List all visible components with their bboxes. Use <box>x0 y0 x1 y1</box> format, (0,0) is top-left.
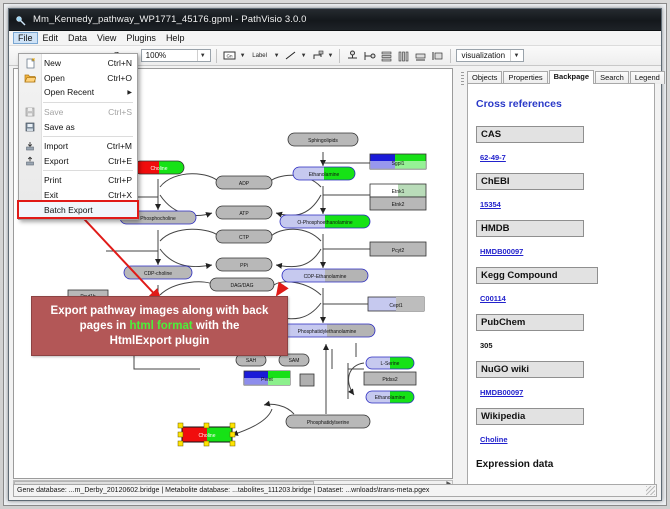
menu-separator <box>43 170 133 171</box>
status-bar: Gene database: ...m_Derby_20120602.bridg… <box>13 484 657 497</box>
svg-text:Phosphatidylethanolamine: Phosphatidylethanolamine <box>298 329 357 335</box>
annotation-line-1: Export pathway images along with back <box>51 304 269 319</box>
menu-item-import[interactable]: Import Ctrl+M <box>19 139 137 154</box>
node-ethanolamine-top: Ethanolamine <box>293 167 355 180</box>
node-sphingolipids: Sphingolipids <box>288 133 358 146</box>
toolbar-separator <box>339 49 340 63</box>
menu-item-batch-export-label: Batch Export <box>41 205 137 215</box>
node-cdp-ethanolamine: CDP-Ethanolamine <box>282 269 368 282</box>
menu-item-print-accel: Ctrl+P <box>108 175 137 185</box>
chevron-down-icon[interactable]: ▼ <box>301 53 307 59</box>
menu-item-print[interactable]: Print Ctrl+P <box>19 173 137 188</box>
svg-text:Sgpl1: Sgpl1 <box>392 161 405 167</box>
menu-item-export[interactable]: Export Ctrl+E <box>19 154 137 169</box>
xref-header-hmdb: HMDB <box>476 220 584 237</box>
svg-text:Sphingolipids: Sphingolipids <box>308 138 338 144</box>
zoom-combo[interactable]: 100% ▼ <box>141 49 211 62</box>
node-atp: ATP <box>216 206 272 219</box>
xref-value-pubchem: 305 <box>480 341 493 350</box>
menu-item-import-accel: Ctrl+M <box>107 141 137 151</box>
open-folder-icon <box>19 71 41 85</box>
svg-text:Pemt: Pemt <box>261 377 273 383</box>
svg-text:Choline: Choline <box>199 433 216 439</box>
svg-text:Etnk2: Etnk2 <box>392 202 405 208</box>
svg-text:Choline: Choline <box>151 166 168 172</box>
node-ctp: CTP <box>216 230 272 243</box>
zoom-value: 100% <box>144 51 197 60</box>
menu-file[interactable]: File <box>13 32 38 44</box>
toolbar-separator <box>216 49 217 63</box>
menu-item-import-label: Import <box>41 141 107 151</box>
blank-icon <box>19 173 41 187</box>
menu-item-open[interactable]: Open Ctrl+O <box>19 71 137 86</box>
menu-item-new-label: New <box>41 58 108 68</box>
chevron-down-icon: ▼ <box>510 50 521 61</box>
distribute-vertical-icon[interactable] <box>379 48 394 63</box>
node-adp: ADP <box>216 176 272 189</box>
line-tool-icon[interactable] <box>283 48 298 63</box>
menu-item-open-label: Open <box>41 73 107 83</box>
blank-icon <box>19 203 41 217</box>
title-bar: Mm_Kennedy_pathway_WP1771_45176.gpml - P… <box>9 9 661 31</box>
chevron-down-icon[interactable]: ▼ <box>328 53 334 59</box>
chevron-down-icon: ▼ <box>197 50 208 61</box>
xref-link-kegg[interactable]: C00114 <box>480 294 506 303</box>
save-disk-icon <box>19 105 41 119</box>
gene-ptdss2: Ptdss2 <box>364 372 416 385</box>
panel-splitter[interactable] <box>459 68 466 489</box>
menu-item-export-label: Export <box>41 156 108 166</box>
xref-link-wikipedia[interactable]: Choline <box>480 435 508 444</box>
menu-item-export-accel: Ctrl+E <box>108 156 137 166</box>
svg-text:O-Phosphoethanolamine: O-Phosphoethanolamine <box>297 220 353 226</box>
node-cdp-choline: CDP-choline <box>124 266 192 279</box>
backpage-content: Cross references CAS 62-49-7 ChEBI 15354… <box>467 83 655 487</box>
svg-text:Gn: Gn <box>226 54 233 59</box>
menu-item-exit[interactable]: Exit Ctrl+X <box>19 188 137 203</box>
gene-sgpl1: Sgpl1 <box>370 154 426 169</box>
align-top-icon[interactable] <box>345 48 360 63</box>
xref-header-wikipedia: Wikipedia <box>476 408 584 425</box>
expression-data-heading: Expression data <box>476 459 646 470</box>
menu-item-print-label: Print <box>41 175 108 185</box>
side-panel: Objects Properties Backpage Search Legen… <box>459 68 656 489</box>
menu-item-save-as-label: Save as <box>41 122 132 132</box>
import-icon <box>19 139 41 153</box>
interaction-tool-icon[interactable] <box>310 48 325 63</box>
toolbar-separator <box>450 49 451 63</box>
save-as-icon <box>19 120 41 134</box>
xref-link-cas[interactable]: 62-49-7 <box>480 153 506 162</box>
same-height-icon[interactable] <box>430 48 445 63</box>
splitter-grip-icon <box>461 72 464 86</box>
status-text: Gene database: ...m_Derby_20120602.bridg… <box>17 487 429 494</box>
svg-text:CDP-Ethanolamine: CDP-Ethanolamine <box>304 274 347 280</box>
menu-bar: File Edit Data View Plugins Help <box>9 31 661 46</box>
xref-header-cas: CAS <box>476 126 584 143</box>
visualization-combo[interactable]: visualization ▼ <box>456 49 524 62</box>
svg-text:CTP: CTP <box>239 235 250 241</box>
node-phosphatidylethanolamine: Phosphatidylethanolamine <box>279 324 375 337</box>
menu-item-open-recent-label: Open Recent <box>41 87 127 97</box>
annotation-callout: Export pathway images along with back pa… <box>31 296 288 356</box>
gene-pcyt2: Pcyt2 <box>370 242 426 256</box>
menu-item-save-accel: Ctrl+S <box>108 107 137 117</box>
tab-backpage[interactable]: Backpage <box>549 70 594 84</box>
new-document-icon <box>19 56 41 70</box>
shape-gray-block <box>300 374 314 386</box>
svg-text:Ptdss2: Ptdss2 <box>382 377 398 383</box>
chevron-down-icon[interactable]: ▼ <box>274 53 280 59</box>
menu-view[interactable]: View <box>92 32 121 44</box>
svg-text:Cept1: Cept1 <box>389 303 403 309</box>
xref-link-hmdb[interactable]: HMDB00097 <box>480 247 523 256</box>
annotation-highlight: html format <box>129 320 192 332</box>
same-width-icon[interactable] <box>413 48 428 63</box>
menu-plugins[interactable]: Plugins <box>121 32 161 44</box>
resize-grip-icon[interactable] <box>646 486 655 495</box>
svg-text:CDP-choline: CDP-choline <box>144 271 172 277</box>
export-icon <box>19 154 41 168</box>
visualization-value: visualization <box>459 51 510 60</box>
xref-link-chebi[interactable]: 15354 <box>480 200 501 209</box>
svg-text:Etnk1: Etnk1 <box>392 189 405 195</box>
svg-text:DAG/DAG: DAG/DAG <box>230 283 253 289</box>
menu-item-save-label: Save <box>41 107 108 117</box>
menu-data[interactable]: Data <box>63 32 92 44</box>
annotation-line-2a: pages in <box>80 320 130 332</box>
xref-header-nugo: NuGO wiki <box>476 361 584 378</box>
menu-item-new-accel: Ctrl+N <box>108 58 137 68</box>
svg-text:ADP: ADP <box>239 181 250 187</box>
annotation-line-2b: with the <box>193 320 240 332</box>
menu-edit[interactable]: Edit <box>38 32 64 44</box>
xref-header-chebi: ChEBI <box>476 173 584 190</box>
svg-text:Ethanolamine: Ethanolamine <box>375 395 406 401</box>
svg-text:SAH: SAH <box>246 358 257 364</box>
svg-text:Ethanolamine: Ethanolamine <box>309 172 340 178</box>
annotation-line-3: HtmlExport plugin <box>110 334 210 349</box>
screenshot-root: Mm_Kennedy_pathway_WP1771_45176.gpml - P… <box>0 0 670 509</box>
svg-text:PPi: PPi <box>240 263 248 269</box>
menu-help[interactable]: Help <box>161 32 190 44</box>
align-middle-icon[interactable] <box>362 48 377 63</box>
menu-item-exit-label: Exit <box>41 190 108 200</box>
menu-item-open-recent[interactable]: Open Recent ▶ <box>19 85 137 100</box>
label-tool-icon[interactable]: Label <box>249 48 271 63</box>
annotation-line-2: pages in html format with the <box>80 319 240 334</box>
chevron-down-icon[interactable]: ▼ <box>240 53 246 59</box>
menu-item-new[interactable]: New Ctrl+N <box>19 56 137 71</box>
node-choline-selected: Choline <box>178 423 235 446</box>
xref-header-kegg: Kegg Compound <box>476 267 598 284</box>
pathvisio-window: Mm_Kennedy_pathway_WP1771_45176.gpml - P… <box>8 8 662 501</box>
file-menu-dropdown: New Ctrl+N Open Ctrl+O Open Recent ▶ <box>18 53 138 220</box>
svg-text:SAM: SAM <box>289 358 300 364</box>
blank-icon <box>19 85 41 99</box>
gene-product-icon[interactable]: Gn <box>222 48 237 63</box>
menu-separator <box>43 136 133 137</box>
menu-item-open-accel: Ctrl+O <box>107 73 137 83</box>
svg-text:Phosphocholine: Phosphocholine <box>140 216 176 222</box>
node-choline-top: Choline <box>134 161 184 174</box>
gene-pemt: Pemt <box>244 371 290 385</box>
svg-text:Pcyt2: Pcyt2 <box>392 248 405 254</box>
label-tool-text: Label <box>252 53 267 59</box>
node-o-phosphoethanolamine: O-Phosphoethanolamine <box>280 215 370 228</box>
pathvisio-app-icon <box>15 14 27 26</box>
panel-tabs: Objects Properties Backpage Search Legen… <box>467 70 656 84</box>
window-title: Mm_Kennedy_pathway_WP1771_45176.gpml - P… <box>33 14 307 25</box>
cross-references-heading: Cross references <box>476 98 646 110</box>
node-ppi: PPi <box>216 258 272 271</box>
submenu-arrow-icon: ▶ <box>127 89 137 96</box>
node-phosphatidylserine: Phosphatidylserine <box>286 415 370 428</box>
distribute-horizontal-icon[interactable] <box>396 48 411 63</box>
svg-text:ATP: ATP <box>239 211 249 217</box>
xref-header-pubchem: PubChem <box>476 314 584 331</box>
menu-item-save[interactable]: Save Ctrl+S <box>19 105 137 120</box>
node-dag: DAG/DAG <box>210 278 274 291</box>
menu-item-exit-accel: Ctrl+X <box>108 190 137 200</box>
svg-text:L-Serine: L-Serine <box>381 361 400 367</box>
menu-item-batch-export[interactable]: Batch Export <box>19 202 137 217</box>
menu-separator <box>43 102 133 103</box>
node-ethanolamine-bottom: Ethanolamine <box>366 391 414 403</box>
gene-etnk2: Etnk2 <box>370 197 426 210</box>
gene-cept1: Cept1 <box>368 297 424 311</box>
xref-link-nugo[interactable]: HMDB00097 <box>480 388 523 397</box>
blank-icon <box>19 188 41 202</box>
node-l-serine: L-Serine <box>366 357 414 369</box>
gene-etnk1: Etnk1 <box>370 184 426 197</box>
svg-text:Phosphatidylserine: Phosphatidylserine <box>307 420 349 426</box>
menu-item-save-as[interactable]: Save as <box>19 119 137 134</box>
